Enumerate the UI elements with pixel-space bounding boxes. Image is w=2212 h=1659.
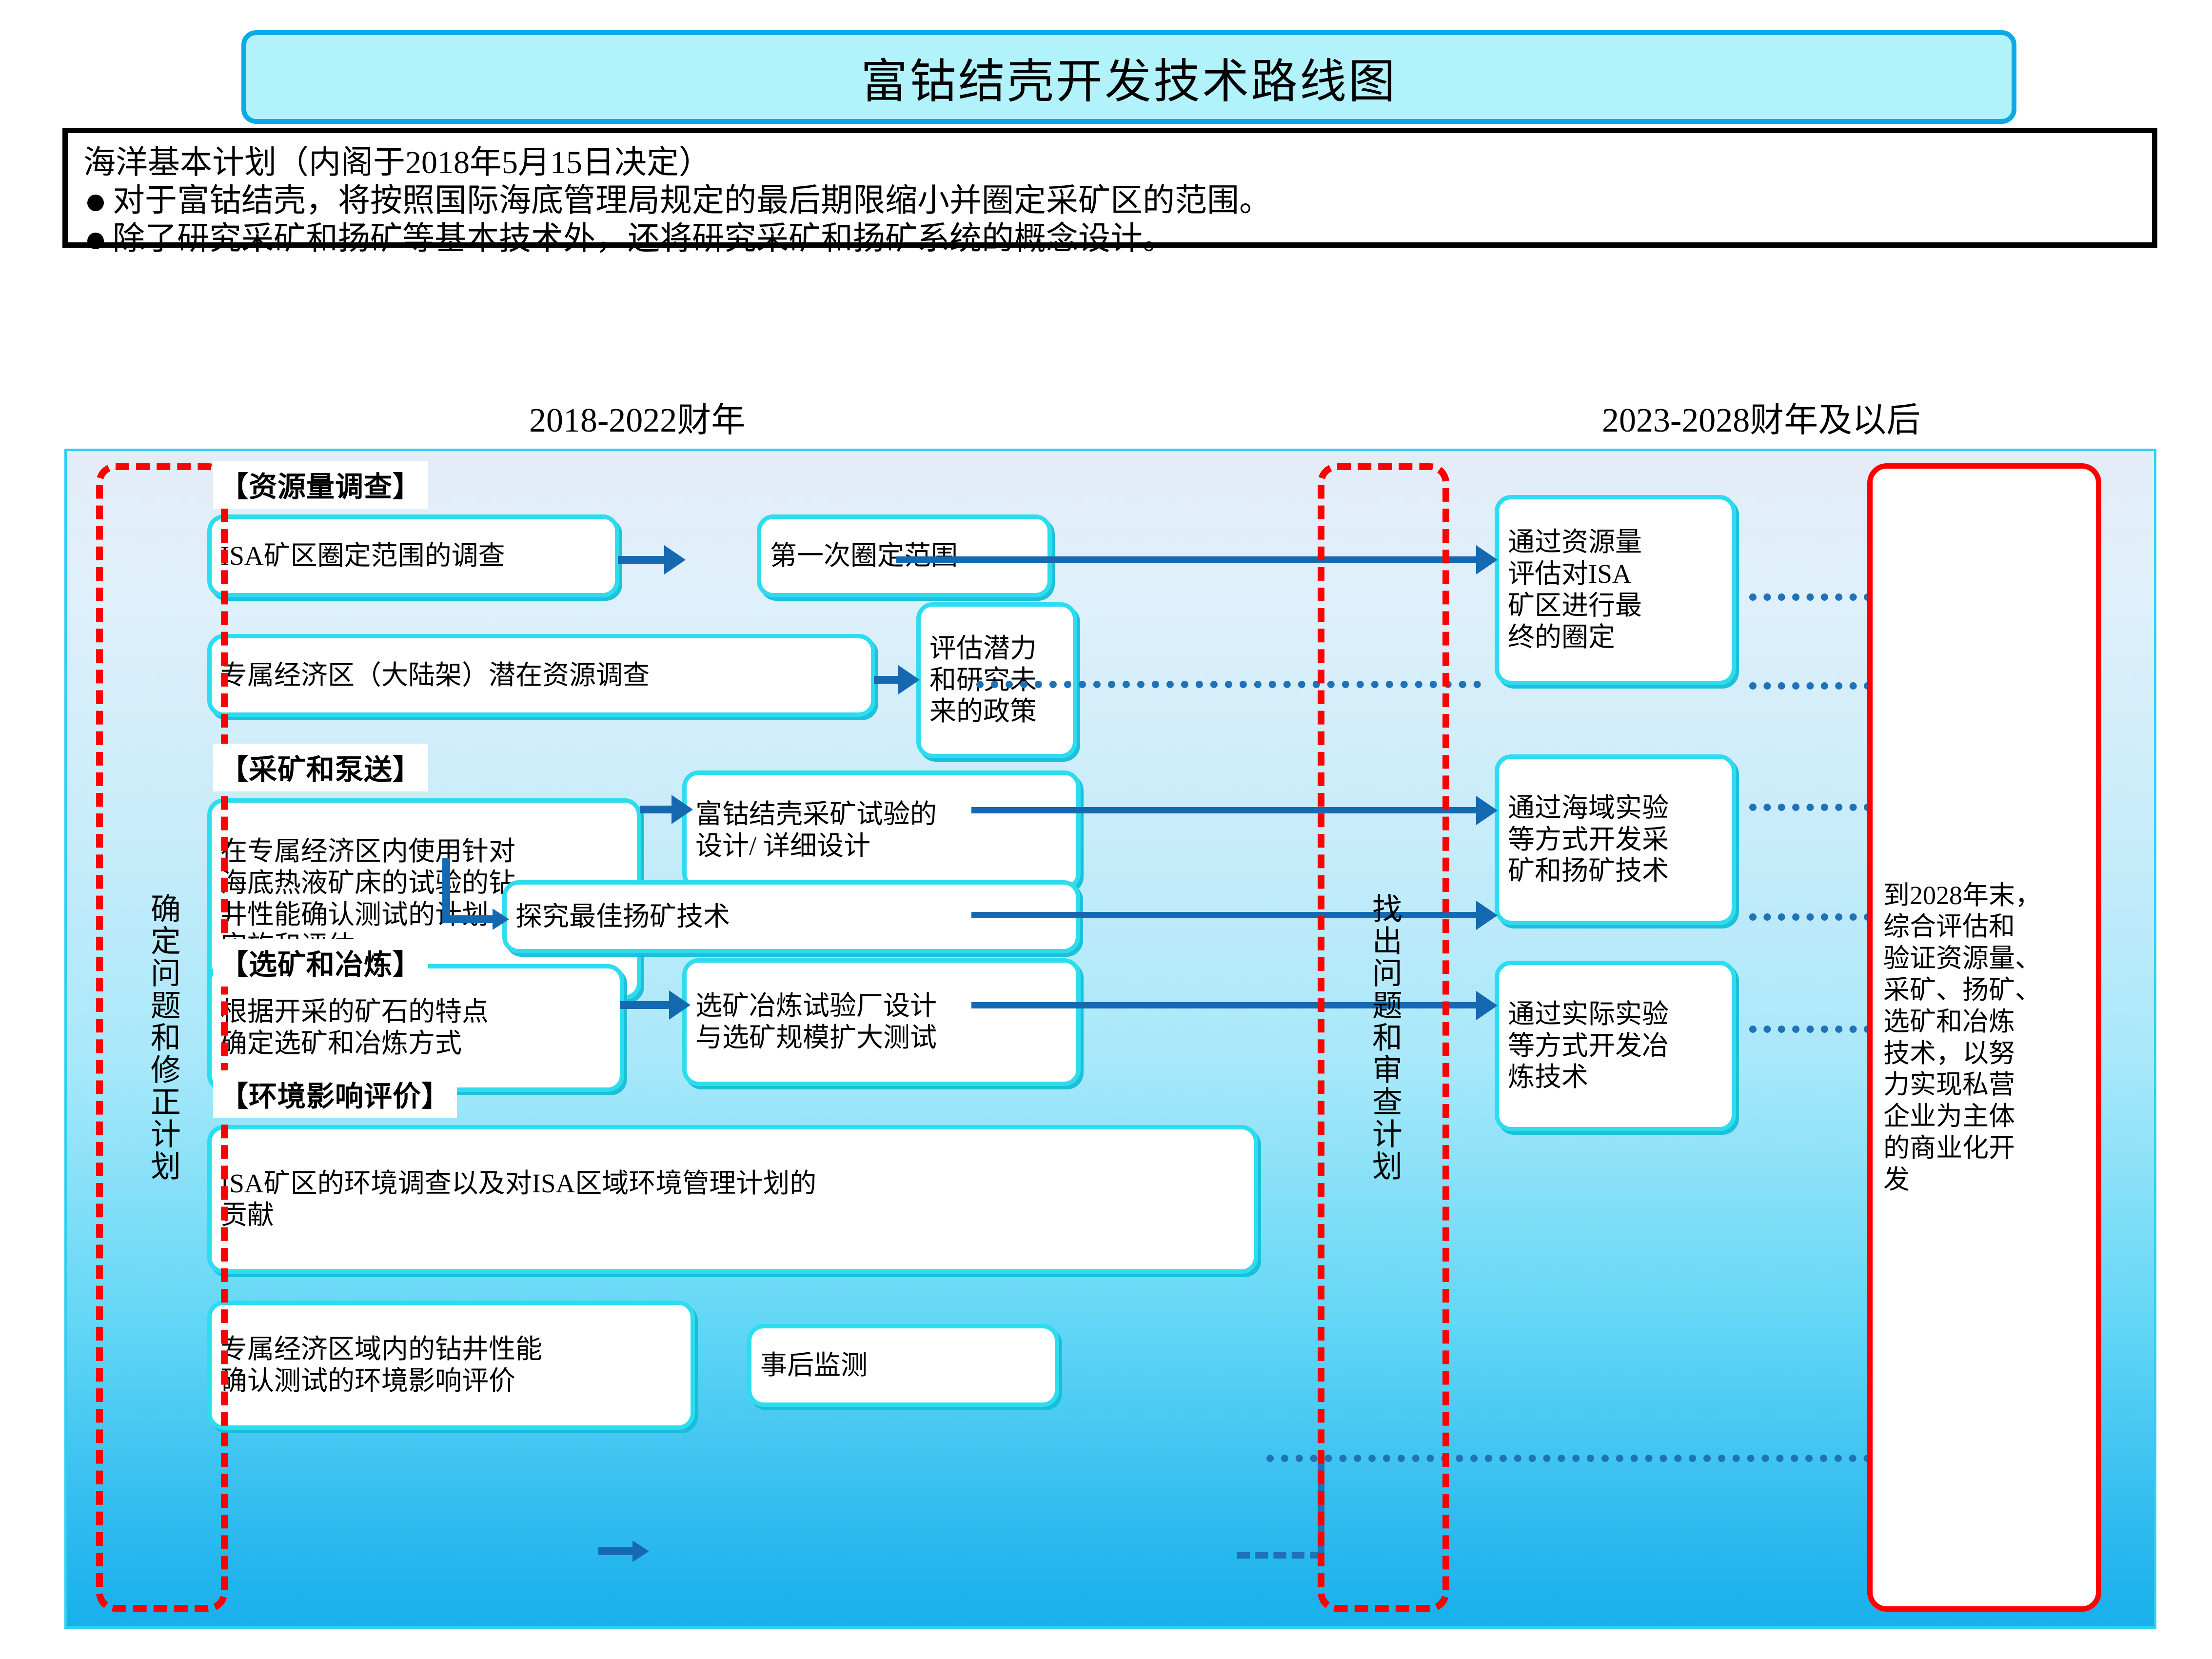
bullet-dot-icon (87, 233, 104, 249)
connector-plan-elbow-vertical (442, 858, 450, 922)
arrow-first-to-final (1476, 545, 1498, 574)
box-final-delineation-text: 通过资源量 评估对ISA 矿区进行最 终的圈定 (1499, 527, 1732, 653)
box-crust-mining-design[interactable]: 富钴结壳采矿试验的 设计/ 详细设计 (682, 770, 1081, 890)
box-final-delineation[interactable]: 通过资源量 评估对ISA 矿区进行最 终的圈定 (1495, 495, 1736, 685)
section-caption-environmental-impact: 【环境影响评价】 (213, 1070, 457, 1118)
basic-plan-heading: 海洋基本计划（内阁于2018年5月15日决定） (83, 144, 2138, 182)
page-title: 富钴结壳开发技术路线图 (861, 43, 1397, 111)
bullet-dot-icon (87, 195, 104, 211)
box-isa-env-survey[interactable]: ISA矿区的环境调查以及对ISA区域环境管理计划的 贡献 (207, 1125, 1258, 1274)
region-find-problems-and-review: 找出问题和审查计划 (1318, 463, 1449, 1612)
box-dev-smelting-text: 通过实际实验 等方式开发冶 炼技术 (1499, 999, 1732, 1094)
goal-2028-box: 到2028年末， 综合评估和 验证资源量、 采矿、扬矿、 选矿和冶炼 技术，以努… (1867, 463, 2101, 1612)
box-eez-env-eia-text: 专属经济区域内的钻井性能 确认测试的环境影响评价 (212, 1334, 691, 1397)
arrow-eia-to-monitor (632, 1540, 649, 1562)
basic-plan-box: 海洋基本计划（内阁于2018年5月15日决定） 对于富钴结壳，将按照国际海底管理… (62, 128, 2157, 248)
goal-2028-text: 到2028年末， 综合评估和 验证资源量、 采矿、扬矿、 选矿和冶炼 技术，以努… (1873, 880, 2052, 1196)
box-eez-survey-text: 专属经济区（大陆架）潜在资源调查 (212, 660, 871, 691)
box-first-delineation[interactable]: 第一次圈定范围 (757, 514, 1052, 597)
box-isa-survey[interactable]: ISA矿区圈定范围的调查 (207, 514, 619, 597)
region-identify-and-revise-label: 确定问题和修正计划 (146, 893, 178, 1183)
basic-plan-bullet-2: 除了研究采矿和扬矿等基本技术外，还将研究采矿和扬矿系统的概念设计。 (83, 220, 2138, 258)
basic-plan-bullet-1: 对于富钴结壳，将按照国际海底管理局规定的最后期限缩小并圈定采矿区的范围。 (83, 182, 2138, 220)
connector-plan-elbow-horizontal (442, 915, 496, 923)
dotted-monitor-to-elbow (1237, 1552, 1323, 1559)
arrow-isa-to-first (664, 545, 686, 574)
region-identify-and-revise: 确定问题和修正计划 (96, 463, 228, 1612)
dotted-devmining-to-goal-bottom (1749, 913, 1871, 921)
section-caption-beneficiation-smelting: 【选矿和冶炼】 (213, 939, 428, 987)
box-assess-policy[interactable]: 评估潜力 和研究未 来的政策 (916, 602, 1077, 758)
dotted-final-to-goal-bottom (1749, 682, 1871, 690)
roadmap-panel: 确定问题和修正计划 找出问题和审查计划 到2028年末， 综合评估和 验证资源量… (64, 449, 2156, 1629)
arrow-bestlift-to-devmining (1476, 901, 1498, 930)
dotted-final-to-goal-top (1749, 593, 1871, 601)
connector-eia-to-monitor (598, 1547, 635, 1555)
timeline-label-right: 2023-2028财年及以后 (1602, 393, 1920, 442)
connector-isa-to-first (618, 556, 667, 564)
box-assess-policy-text: 评估潜力 和研究未 来的政策 (921, 633, 1073, 728)
diagram-title-banner: 富钴结壳开发技术路线图 (241, 30, 2016, 124)
box-dev-smelting[interactable]: 通过实际实验 等方式开发冶 炼技术 (1495, 961, 1736, 1131)
arrow-ore-to-pilot (669, 990, 691, 1020)
arrow-design-to-devmining (1476, 796, 1498, 825)
box-first-delineation-text: 第一次圈定范围 (761, 540, 1047, 572)
section-caption-resource-survey: 【资源量调查】 (213, 461, 428, 509)
arrow-plan-to-bestlift (493, 908, 509, 930)
basic-plan-bullet-2-text: 除了研究采矿和扬矿等基本技术外，还将研究采矿和扬矿系统的概念设计。 (113, 220, 1175, 258)
connector-ore-to-pilot (620, 1001, 671, 1009)
box-dev-mining-lifting[interactable]: 通过海域实验 等方式开发采 矿和扬矿技术 (1495, 754, 1736, 925)
connector-plan-to-design (640, 806, 674, 813)
region-find-problems-and-review-label: 找出问题和审查计划 (1367, 893, 1400, 1183)
box-eez-survey[interactable]: 专属经济区（大陆架）潜在资源调查 (207, 634, 875, 717)
arrow-pilot-to-devsmelt (1476, 991, 1498, 1020)
basic-plan-bullet-1-text: 对于富钴结壳，将按照国际海底管理局规定的最后期限缩小并圈定采矿区的范围。 (113, 182, 1271, 220)
box-isa-env-survey-text: ISA矿区的环境调查以及对ISA区域环境管理计划的 贡献 (212, 1168, 1254, 1231)
dotted-devmining-to-goal-top (1749, 804, 1871, 811)
box-isa-survey-text: ISA矿区圈定范围的调查 (212, 540, 615, 572)
box-post-monitoring[interactable]: 事后监测 (747, 1324, 1059, 1407)
arrow-eez-to-assess (898, 665, 920, 694)
arrow-plan-to-design (671, 795, 693, 824)
box-pilot-plant-text: 选矿冶炼试验厂设计 与选矿规模扩大测试 (687, 990, 1076, 1054)
section-caption-mining-pumping: 【采矿和泵送】 (213, 744, 428, 791)
box-ore-method-text: 根据开采的矿石的特点 确定选矿和冶炼方式 (212, 996, 620, 1060)
box-pilot-plant[interactable]: 选矿冶炼试验厂设计 与选矿规模扩大测试 (682, 958, 1081, 1086)
box-dev-mining-lifting-text: 通过海域实验 等方式开发采 矿和扬矿技术 (1499, 792, 1732, 888)
box-eez-env-eia[interactable]: 专属经济区域内的钻井性能 确认测试的环境影响评价 (207, 1301, 695, 1430)
timeline-label-left: 2018-2022财年 (529, 393, 745, 442)
dotted-devsmelt-to-goal (1749, 1026, 1871, 1033)
box-post-monitoring-text: 事后监测 (751, 1350, 1055, 1382)
